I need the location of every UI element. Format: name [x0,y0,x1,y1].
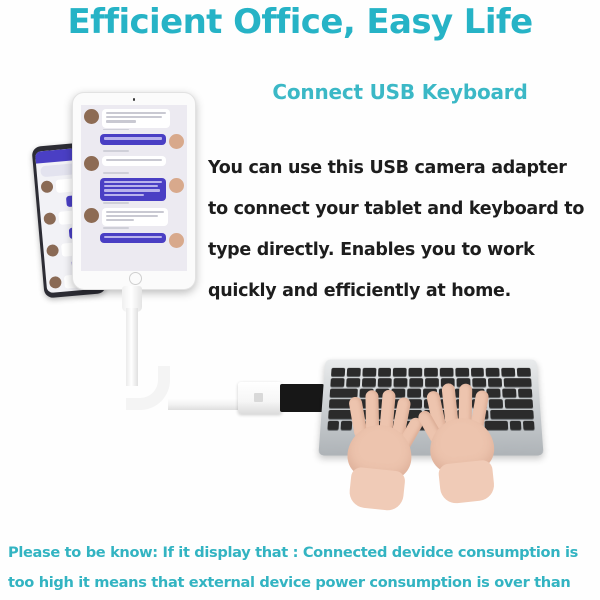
adapter-cable-bend [126,366,170,410]
usb-female-port [238,382,282,414]
avatar [84,109,99,124]
message-bubble-outgoing [74,290,101,294]
key[interactable] [409,378,423,387]
list-item [84,178,184,201]
key-row [331,368,531,376]
key[interactable] [331,368,345,376]
white-tablet [72,92,196,290]
key-enter[interactable] [504,399,533,408]
key-control[interactable] [341,421,353,430]
key[interactable] [362,368,376,376]
page-title: Efficient Office, Easy Life [0,2,600,42]
key[interactable] [378,378,392,387]
message-timestamp [103,202,129,204]
list-item [84,156,184,171]
message-timestamp [103,129,129,131]
message-timestamp [103,227,129,229]
key[interactable] [346,378,360,387]
message-bubble-incoming [102,208,168,227]
key-backspace[interactable] [504,378,532,387]
key[interactable] [347,368,361,376]
avatar [169,134,184,149]
key[interactable] [407,389,421,398]
key[interactable] [330,378,344,387]
message-bubble-outgoing [100,233,166,243]
key[interactable] [378,368,392,376]
message-timestamp [103,172,129,174]
avatar [84,156,99,171]
wrist [348,466,406,511]
list-item [84,208,184,227]
key[interactable] [488,399,503,408]
avatar [41,180,54,193]
key[interactable] [440,368,454,376]
adapter-cable-horizontal [168,398,242,410]
key-shift-right[interactable] [490,410,534,419]
key[interactable] [455,368,469,376]
key[interactable] [393,378,407,387]
wrist [438,459,496,504]
message-bubble-outgoing [100,178,166,201]
avatar [169,178,184,193]
section-subtitle: Connect USB Keyboard [200,80,600,104]
list-item [84,109,184,128]
key[interactable] [501,368,515,376]
list-item [50,290,101,294]
key[interactable] [393,368,407,376]
key[interactable] [486,368,500,376]
key-fn[interactable] [327,421,339,430]
list-item [84,233,184,248]
avatar [49,276,62,289]
message-bubble-incoming [102,156,166,166]
avatar [43,212,56,225]
message-bubble-outgoing [100,134,166,144]
key[interactable] [517,368,531,376]
key[interactable] [488,378,502,387]
key[interactable] [518,389,532,398]
key-arrow[interactable] [523,421,535,430]
key-command-right[interactable] [485,421,508,430]
avatar [46,244,59,257]
description-text: You can use this USB camera adapter to c… [208,148,590,312]
avatar [84,208,99,223]
key[interactable] [502,389,516,398]
key[interactable] [362,378,376,387]
key[interactable] [424,368,438,376]
usb-port-slot [254,393,263,402]
home-button[interactable] [129,272,142,285]
avatar [169,233,184,248]
key-arrow[interactable] [509,421,521,430]
disclaimer-text: Please to be know: If it display that : … [8,538,598,600]
product-marketing-image: Efficient Office, Easy Life Connect USB … [0,0,600,600]
key[interactable] [425,378,439,387]
list-item [84,134,184,149]
message-bubble-incoming [102,109,170,128]
key-row [330,378,531,387]
usb-male-plug [280,384,324,412]
message-timestamp [103,150,129,152]
key[interactable] [472,378,486,387]
front-camera-icon [133,98,136,101]
tablet-screen [81,105,187,271]
key[interactable] [471,368,485,376]
key[interactable] [409,368,423,376]
key-tab[interactable] [330,389,358,398]
